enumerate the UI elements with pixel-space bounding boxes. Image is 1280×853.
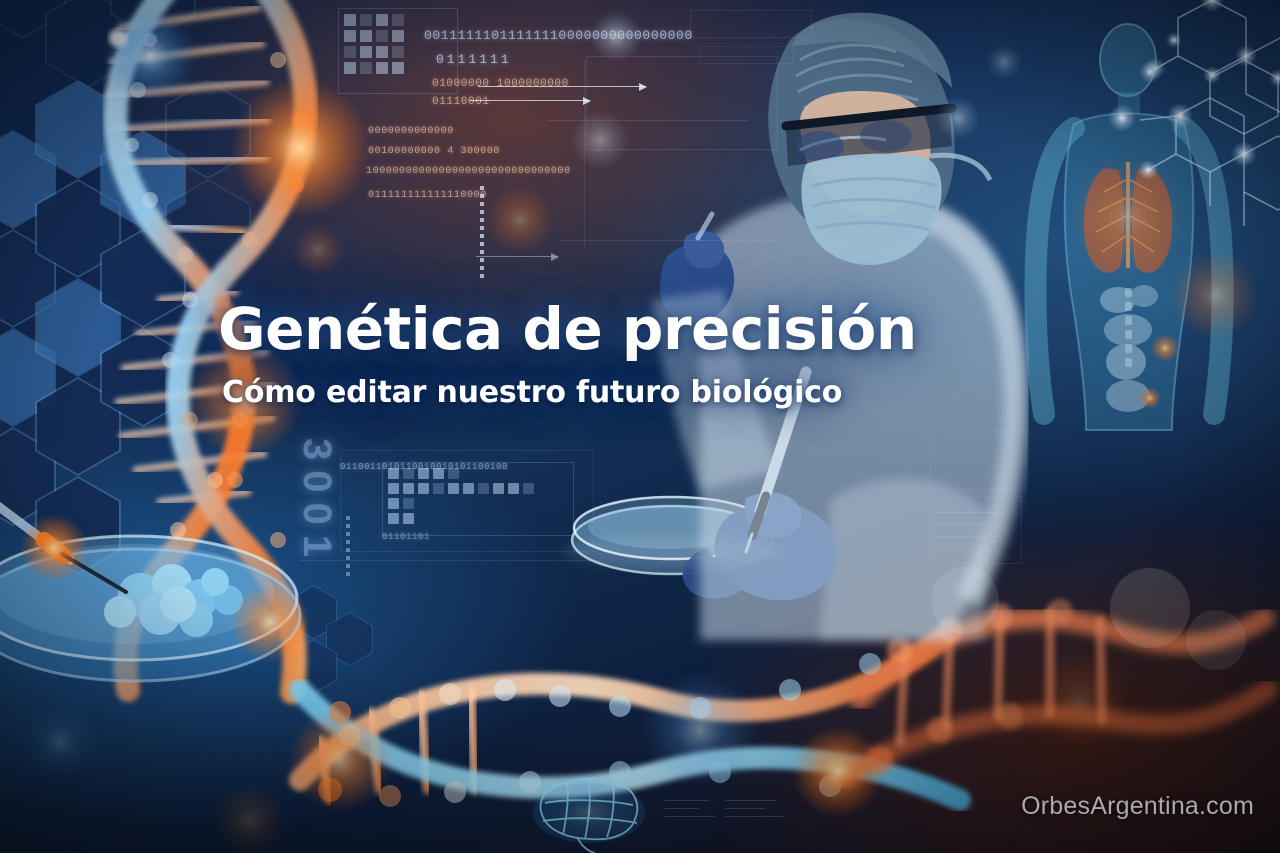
watermark: OrbesArgentina.com bbox=[1021, 792, 1254, 821]
vignette bbox=[0, 0, 1280, 853]
binary-row-7: 011111111111110000 bbox=[368, 190, 487, 201]
binary-row-6: 1000000000000000000000000000000 bbox=[366, 166, 571, 177]
binary-row-3: 01110001 bbox=[432, 96, 490, 108]
vertical-number: 3001 bbox=[294, 438, 339, 567]
binary-row-4: 0000000000000 bbox=[368, 126, 454, 137]
binary-row-8: 0110011010110010010101100100 bbox=[340, 462, 508, 472]
page-subtitle: Cómo editar nuestro futuro biológico bbox=[222, 376, 978, 409]
page-title: Genética de precisión bbox=[218, 300, 978, 360]
binary-row-1: 0111111 bbox=[436, 52, 512, 67]
binary-row-5: 00100000000 4 300000 bbox=[368, 146, 500, 157]
background-gradient bbox=[0, 0, 1280, 853]
dna-helix-top-left bbox=[0, 0, 1280, 853]
hud-overlay: 00111111011111110000000000000000 0111111… bbox=[0, 0, 1280, 853]
binary-row-9: 01101101 bbox=[382, 532, 430, 542]
binary-row-0: 00111111011111110000000000000000 bbox=[424, 28, 693, 43]
hexagon-grid bbox=[0, 0, 1280, 853]
headline-block: Genética de precisión Cómo editar nuestr… bbox=[218, 300, 978, 409]
hero-image: 00111111011111110000000000000000 0111111… bbox=[0, 0, 1280, 853]
binary-row-2: 01000000 1000000000 bbox=[432, 78, 569, 90]
